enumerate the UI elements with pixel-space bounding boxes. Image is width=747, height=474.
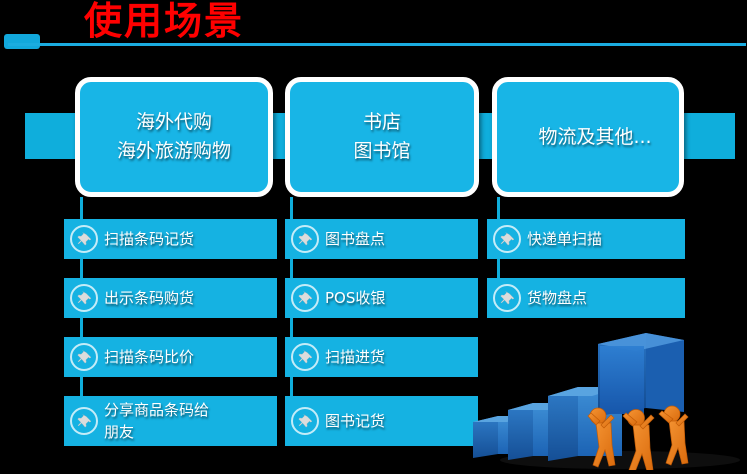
category-card-label: 书店 图书馆 bbox=[353, 108, 410, 166]
list-item[interactable]: POS收银 bbox=[285, 278, 478, 318]
connector-tick bbox=[290, 318, 293, 337]
category-card-overseas[interactable]: 海外代购 海外旅游购物 bbox=[75, 77, 273, 197]
list-item[interactable]: 扫描条码比价 bbox=[64, 337, 277, 377]
list-item[interactable]: 快递单扫描 bbox=[487, 219, 685, 259]
pushpin-icon bbox=[64, 278, 104, 318]
category-card-bookstore[interactable]: 书店 图书馆 bbox=[285, 77, 479, 197]
list-item-label: 扫描条码比价 bbox=[104, 346, 200, 368]
list-item[interactable]: 图书记货 bbox=[285, 396, 478, 446]
connector-tick bbox=[80, 377, 83, 396]
connector-tick bbox=[497, 197, 500, 219]
list-item[interactable]: 出示条码购货 bbox=[64, 278, 277, 318]
list-item[interactable]: 扫描条码记货 bbox=[64, 219, 277, 259]
pushpin-icon bbox=[285, 337, 325, 377]
list-item[interactable]: 分享商品条码给 朋友 bbox=[64, 396, 277, 446]
list-item-label: 扫描条码记货 bbox=[104, 228, 200, 250]
slide-canvas: 使用场景 海外代购 海外旅游购物 书店 图书馆 物流及其他... 扫描条码记货 bbox=[0, 0, 747, 470]
list-item[interactable]: 货物盘点 bbox=[487, 278, 685, 318]
pushpin-icon bbox=[285, 401, 325, 441]
category-card-logistics[interactable]: 物流及其他... bbox=[492, 77, 684, 197]
list-item-label: 图书记货 bbox=[325, 410, 391, 432]
connector-tick bbox=[290, 377, 293, 396]
list-item-label: 出示条码购货 bbox=[104, 287, 200, 309]
list-item-label: POS收银 bbox=[325, 287, 391, 309]
list-item-label: 图书盘点 bbox=[325, 228, 391, 250]
pushpin-icon bbox=[285, 278, 325, 318]
connector-tick bbox=[497, 259, 500, 278]
list-item-label: 快递单扫描 bbox=[527, 228, 608, 250]
list-item-label: 分享商品条码给 朋友 bbox=[104, 399, 215, 443]
category-card-label: 物流及其他... bbox=[524, 123, 651, 152]
list-item-label: 扫描进货 bbox=[325, 346, 391, 368]
connector-tick bbox=[80, 197, 83, 219]
pushpin-icon bbox=[64, 219, 104, 259]
list-item-label: 货物盘点 bbox=[527, 287, 593, 309]
connector-tick bbox=[290, 259, 293, 278]
bar-chart-people-illustration bbox=[470, 330, 747, 470]
connector-tick bbox=[80, 259, 83, 278]
pushpin-icon bbox=[64, 401, 104, 441]
connector-tick bbox=[290, 197, 293, 219]
page-title: 使用场景 bbox=[84, 0, 244, 44]
pushpin-icon bbox=[64, 337, 104, 377]
pushpin-icon bbox=[285, 219, 325, 259]
title-accent-tab bbox=[4, 34, 40, 49]
connector-tick bbox=[80, 318, 83, 337]
category-card-label: 海外代购 海外旅游购物 bbox=[117, 108, 231, 166]
list-item[interactable]: 扫描进货 bbox=[285, 337, 478, 377]
pushpin-icon bbox=[487, 219, 527, 259]
pushpin-icon bbox=[487, 278, 527, 318]
list-item[interactable]: 图书盘点 bbox=[285, 219, 478, 259]
